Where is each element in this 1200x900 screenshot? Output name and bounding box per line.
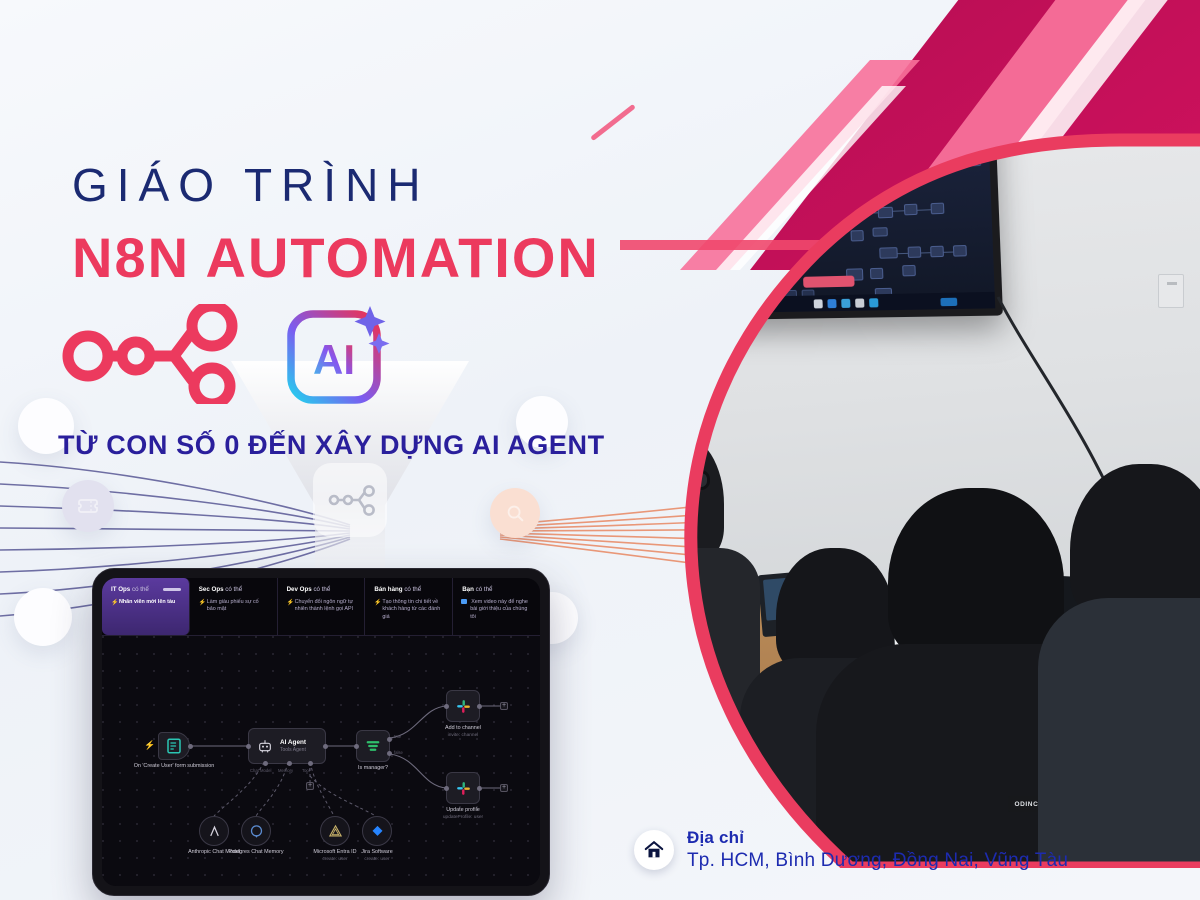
node-sublabel: Tools Agent — [280, 747, 306, 753]
card-role: Bạn — [462, 586, 474, 593]
tablet-device: IT Ops có thể ⚡ Nhân viên mới lên tàu Se… — [92, 568, 550, 896]
card-role: Dev Ops — [287, 586, 312, 593]
address-label: Địa chỉ — [687, 828, 1068, 848]
title-line-2: N8N AUTOMATION — [72, 229, 692, 288]
trigger-bolt-icon: ⚡ — [144, 740, 155, 751]
bolt-icon: ⚡ — [374, 599, 381, 607]
jira-icon — [370, 824, 385, 839]
port-label-tool: Tool — [302, 768, 310, 773]
branch-label-false: false — [394, 750, 403, 755]
node-sublabel: invite: channel — [403, 733, 523, 739]
node-jira-software[interactable]: Jira Software create: user — [362, 816, 392, 846]
node-label: AI Agent — [280, 739, 306, 747]
node-label: On 'Create User' form submission — [114, 763, 234, 770]
workflow-canvas[interactable]: On 'Create User' form submission ⚡ AI Ag… — [102, 636, 540, 886]
bolt-icon: ⚡ — [287, 599, 294, 607]
node-slack-add-to-channel[interactable]: Add to channel invite: channel — [446, 690, 480, 722]
card-suffix: có thể — [225, 586, 242, 593]
card-dev-ops[interactable]: Dev Ops có thể ⚡ Chuyển đổi ngôn ngữ tự … — [278, 578, 366, 635]
card-sales[interactable]: Bán hàng có thể ⚡ Tạo thông tin chi tiết… — [365, 578, 453, 635]
bolt-icon: ⚡ — [199, 599, 206, 607]
card-body: Nhân viên mới lên tàu — [119, 599, 175, 605]
card-body: Xem video này để nghe bài giới thiệu của… — [470, 599, 528, 620]
card-you[interactable]: Bạn có thể Xem video này để nghe bài giớ… — [453, 578, 540, 635]
photo-panel: ODINCLUB — [600, 78, 1200, 868]
port-label-memory: Memory — [278, 768, 293, 773]
robot-icon — [257, 738, 273, 754]
node-form-trigger[interactable]: On 'Create User' form submission — [158, 732, 190, 760]
poster-root: GIÁO TRÌNH N8N AUTOMATION — [0, 0, 1200, 900]
title-line-1: GIÁO TRÌNH — [72, 160, 692, 211]
node-ai-agent[interactable]: AI Agent Tools Agent — [248, 728, 326, 764]
node-label: Jira Software create: user — [317, 849, 437, 864]
add-node-button-1[interactable]: + — [500, 702, 508, 710]
home-icon — [643, 839, 665, 861]
bolt-icon: ⚡ — [111, 599, 118, 607]
ticket-circle — [62, 480, 114, 532]
address-block: Địa chỉ Tp. HCM, Bình Dương, Đồng Nai, V… — [634, 828, 1068, 872]
slack-icon — [455, 698, 472, 715]
slack-icon — [455, 780, 472, 797]
branch-label-true: true — [394, 734, 401, 739]
card-suffix: có thể — [476, 586, 493, 593]
search-circle — [490, 488, 540, 538]
card-role: IT Ops — [111, 586, 130, 593]
logo-row: AI — [60, 300, 394, 408]
card-body: Làm giàu phiếu sự cố bảo mật — [207, 599, 259, 612]
form-trigger-icon — [165, 737, 183, 755]
node-anthropic-chat-model[interactable]: Anthropic Chat Model — [199, 816, 229, 846]
ai-badge-icon: AI — [282, 300, 394, 408]
tablet-screen: IT Ops có thể ⚡ Nhân viên mới lên tàu Se… — [102, 578, 540, 886]
switch-icon — [364, 737, 382, 755]
node-sublabel: create: user — [317, 857, 437, 863]
address-value: Tp. HCM, Bình Dương, Đồng Nai, Vũng Tàu — [687, 850, 1068, 872]
postgres-icon — [249, 824, 264, 839]
card-it-ops[interactable]: IT Ops có thể ⚡ Nhân viên mới lên tàu — [102, 578, 190, 635]
anthropic-icon — [207, 824, 222, 839]
card-suffix: có thể — [313, 586, 330, 593]
home-icon-wrap — [634, 830, 674, 870]
photo-border-stroke — [600, 78, 1200, 868]
subtitle: TỪ CON SỐ 0 ĐẾN XÂY DỰNG AI AGENT — [58, 430, 605, 461]
card-role: Bán hàng — [374, 586, 402, 593]
card-suffix: có thể — [404, 586, 421, 593]
add-node-button-2[interactable]: + — [500, 784, 508, 792]
node-sublabel: updateProfile: user — [403, 815, 523, 821]
card-role: Sec Ops — [199, 586, 224, 593]
card-sec-ops[interactable]: Sec Ops có thể ⚡ Làm giàu phiếu sự cố bả… — [190, 578, 278, 635]
node-switch[interactable]: Is manager? — [356, 730, 390, 762]
node-microsoft-entra-id[interactable]: Microsoft Entra ID create: user — [320, 816, 350, 846]
svg-text:AI: AI — [313, 336, 355, 383]
node-label: Add to channel invite: channel — [403, 725, 523, 740]
card-suffix: có thể — [132, 586, 149, 593]
video-icon — [461, 599, 467, 604]
port-label-chat-model: Chat Model — [250, 768, 271, 773]
decor-circle-2 — [14, 588, 72, 646]
card-body: Tạo thông tin chi tiết về khách hàng từ … — [382, 599, 440, 620]
entra-icon — [328, 824, 343, 839]
ticket-icon — [76, 494, 100, 518]
add-tool-button[interactable]: + — [306, 782, 314, 790]
search-icon — [504, 502, 526, 524]
suggestion-card-bar: IT Ops có thể ⚡ Nhân viên mới lên tàu Se… — [102, 578, 540, 636]
node-label: Update profile updateProfile: user — [403, 807, 523, 822]
node-postgres-chat-memory[interactable]: Postgres Chat Memory — [241, 816, 271, 846]
node-label: Is manager? — [313, 765, 433, 772]
n8n-logo-icon — [60, 304, 260, 404]
headline-block: GIÁO TRÌNH N8N AUTOMATION — [72, 160, 692, 287]
node-slack-update-profile[interactable]: Update profile updateProfile: user — [446, 772, 480, 804]
card-body: Chuyển đổi ngôn ngữ tự nhiên thành lệnh … — [295, 599, 353, 612]
